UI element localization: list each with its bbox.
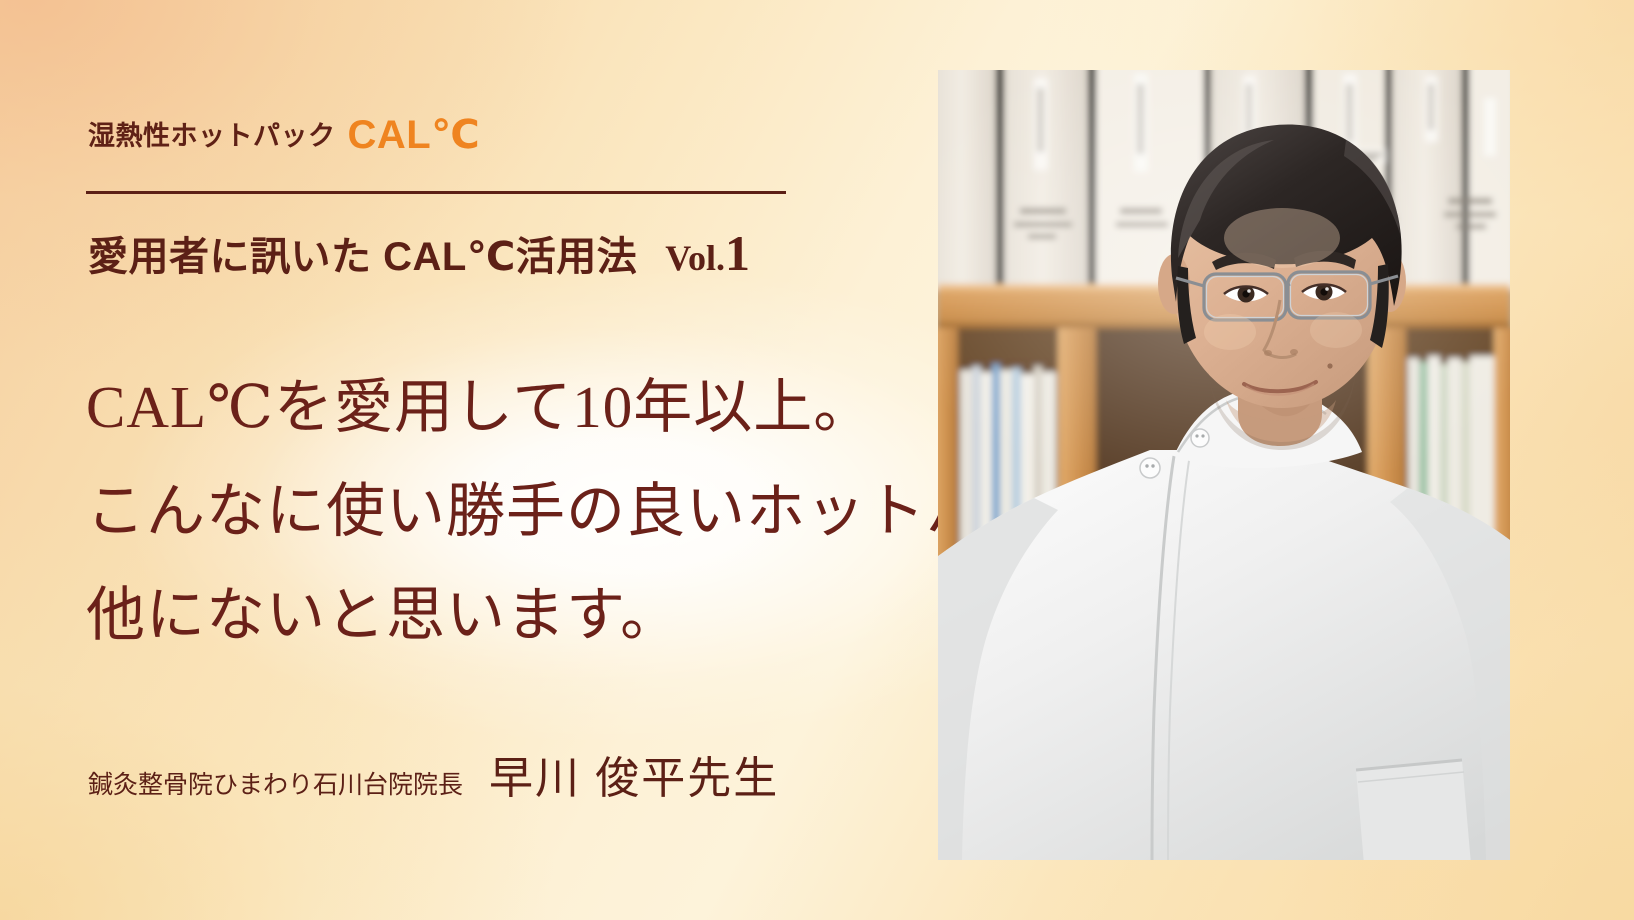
- headline-line-2: こんなに使い勝手の良いホットパックは: [86, 459, 1086, 563]
- series-subtitle: 愛用者に訊いた CAL℃活用法 Vol. 1: [88, 224, 750, 282]
- product-category-label: 湿熱性ホットパック: [88, 114, 336, 153]
- practitioner-photo: [938, 70, 1510, 860]
- attribution-person-name: 早川 俊平先生: [489, 742, 779, 806]
- product-eyebrow: 湿熱性ホットパック CAL℃: [88, 112, 480, 153]
- series-title-text: 愛用者に訊いた CAL℃活用法: [88, 224, 637, 282]
- attribution-clinic-title: 鍼灸整骨院ひまわり石川台院院長: [88, 765, 463, 801]
- promo-banner: 湿熱性ホットパック CAL℃ 愛用者に訊いた CAL℃活用法 Vol. 1 CA…: [0, 0, 1634, 920]
- header-divider: [86, 191, 786, 194]
- brand-logotype: CAL℃: [348, 115, 481, 155]
- volume-number: 1: [725, 224, 750, 282]
- headline-line-1: CAL℃を愛用して10年以上。: [86, 355, 1086, 459]
- headline-quote: CAL℃を愛用して10年以上。 こんなに使い勝手の良いホットパックは 他にないと…: [86, 355, 1086, 667]
- volume-label: Vol.: [665, 237, 725, 279]
- practitioner-photo-illustration: [938, 70, 1510, 860]
- headline-line-3: 他にないと思います。: [86, 563, 1086, 667]
- quote-attribution: 鍼灸整骨院ひまわり石川台院院長 早川 俊平先生: [88, 742, 779, 806]
